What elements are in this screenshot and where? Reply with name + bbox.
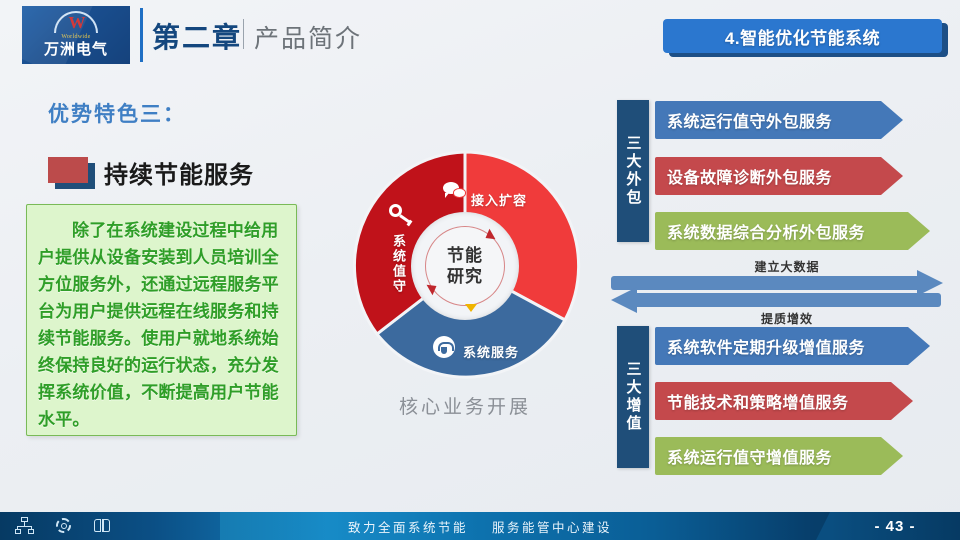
group-label-valueadd: 三大增值 (617, 326, 649, 468)
connector-label-efficiency: 提质增效 (657, 310, 917, 327)
donut-center-label: 节能研究 (443, 245, 487, 287)
header-accent-bar (140, 8, 143, 62)
connector-label-bigdata: 建立大数据 (657, 258, 917, 275)
slide-root: W Worldwide 万洲电气 第二章 产品简介 4.智能优化节能系统 优势特… (0, 0, 960, 540)
company-logo: W Worldwide 万洲电气 (22, 6, 130, 64)
donut-center-text-wrap: 节能研究 (411, 212, 519, 320)
headset-icon (433, 336, 455, 358)
description-box: 除了在系统建设过程中给用户提供从设备安装到人员培训全方位服务外，还通过远程服务平… (26, 204, 297, 436)
arrow-outsourcing-3-label: 系统数据综合分析外包服务 (655, 219, 865, 243)
group-label-valueadd-text: 三大增值 (623, 361, 644, 433)
logo-letter-w: W (69, 13, 84, 33)
page-number: - 43 - (874, 518, 915, 535)
donut-segment-label-service: 系统服务 (463, 342, 519, 361)
feature-title: 持续节能服务 (104, 155, 254, 190)
arrow-outsourcing-3[interactable]: 系统数据综合分析外包服务 (655, 212, 930, 250)
donut-caption: 核心业务开展 (345, 392, 585, 419)
core-business-donut: 接入扩容 系统服务 系统值守 节能研究 核心业务开展 (345, 146, 585, 394)
bullet-square-icon (48, 157, 88, 183)
donut-center-hole: 节能研究 (411, 212, 519, 320)
key-icon (389, 202, 413, 226)
connector-arrow-left (611, 293, 941, 307)
logo-company-name: 万洲电气 (22, 38, 130, 59)
chapter-subtitle: 产品简介 (254, 19, 362, 55)
arrow-valueadd-3[interactable]: 系统运行值守增值服务 (655, 437, 903, 475)
arrow-outsourcing-1[interactable]: 系统运行值守外包服务 (655, 101, 903, 139)
donut-segment-label-watch: 系统值守 (389, 234, 408, 294)
group-label-outsourcing: 三大外包 (617, 100, 649, 242)
feature-heading: 优势特色三： (48, 98, 186, 128)
arrow-valueadd-2[interactable]: 节能技术和策略增值服务 (655, 382, 913, 420)
arrow-valueadd-1-label: 系统软件定期升级增值服务 (655, 334, 865, 358)
arrow-outsourcing-2-label: 设备故障诊断外包服务 (655, 164, 832, 188)
arrow-valueadd-2-label: 节能技术和策略增值服务 (655, 389, 849, 413)
banner-face: 4.智能优化节能系统 (663, 19, 942, 53)
footer-slogan-left: 致力全面系统节能 (348, 517, 468, 536)
banner-label: 4.智能优化节能系统 (725, 24, 880, 49)
arrow-valueadd-3-label: 系统运行值守增值服务 (655, 444, 832, 468)
donut-segment-label-access: 接入扩容 (471, 190, 527, 209)
arrow-valueadd-1[interactable]: 系统软件定期升级增值服务 (655, 327, 930, 365)
chapter-separator (243, 19, 244, 49)
footer-slogan-right: 服务能管中心建设 (492, 517, 612, 536)
description-paragraph: 除了在系统建设过程中给用户提供从设备安装到人员培训全方位服务外，还通过远程服务平… (38, 217, 285, 433)
chapter-title: 第二章 (152, 16, 242, 56)
logo-arc-shape (54, 11, 98, 33)
arrow-outsourcing-1-label: 系统运行值守外包服务 (655, 108, 832, 132)
footer-bar: 致力全面系统节能 服务能管中心建设 - 43 - (0, 512, 960, 540)
group-label-outsourcing-text: 三大外包 (623, 135, 644, 207)
arrow-outsourcing-2[interactable]: 设备故障诊断外包服务 (655, 157, 903, 195)
section-title-banner: 4.智能优化节能系统 (663, 19, 948, 57)
page-number-tab: - 43 - (830, 512, 960, 540)
speech-bubble-icon (443, 182, 467, 201)
connector-arrow-right (611, 276, 941, 290)
